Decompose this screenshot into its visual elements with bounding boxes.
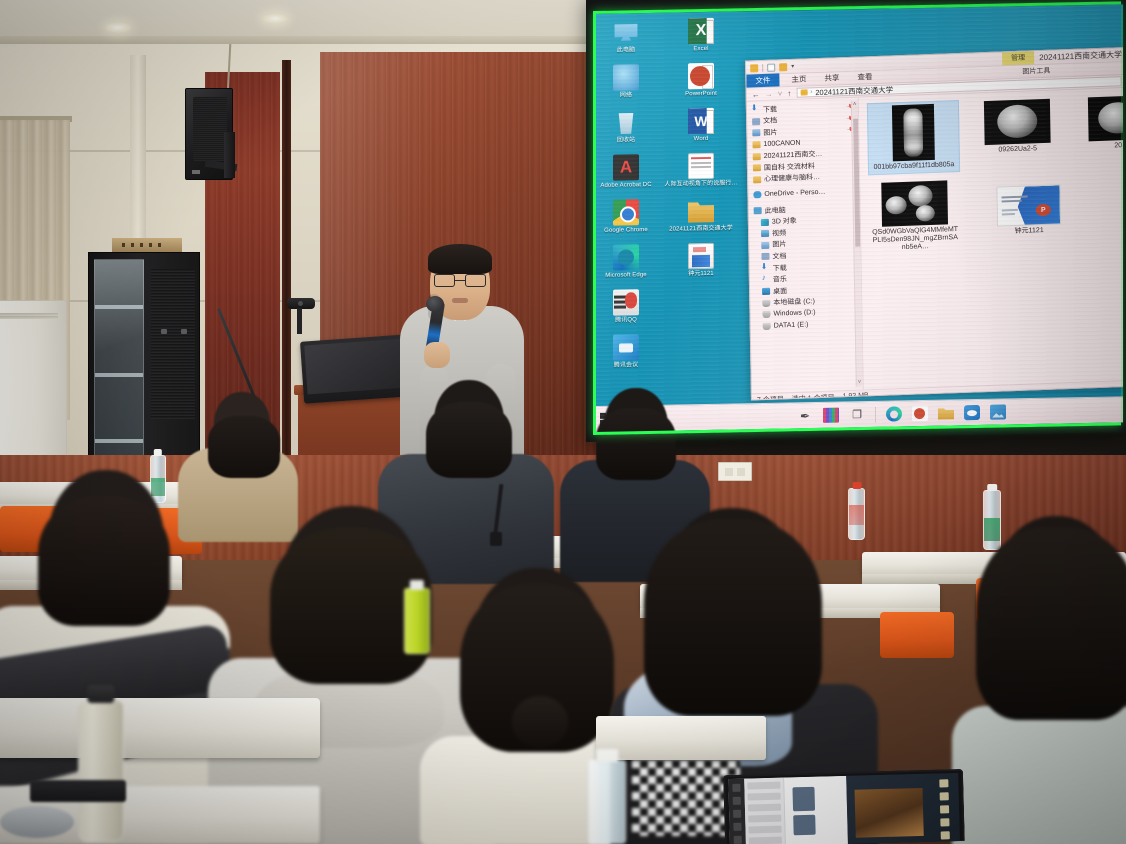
file-name-label: 001bb97cba9f11f1db805a [874, 161, 955, 172]
file-list-content-pane[interactable]: 001bb97cba9f11f1db805a 09262Ua2-5 20… [859, 88, 1123, 389]
scroll-down-icon[interactable]: ˅ [858, 380, 862, 386]
nav-item-label: 文档 [772, 251, 786, 261]
nav-item-label: 桌面 [773, 286, 787, 296]
ceiling [0, 0, 600, 40]
pen-icon[interactable] [797, 408, 813, 423]
file-thumbnail [1088, 95, 1123, 141]
file-name-label: QSd0WGbVaQlG4MMfeMTPLI5sDen98JN_mgZBrnSA… [871, 226, 959, 253]
desktop-icon-label: 腾讯会议 [600, 362, 652, 370]
desktop-icon-excel[interactable]: Excel [662, 17, 740, 53]
photos-icon[interactable] [990, 404, 1006, 419]
file-thumbnail-powerpoint [996, 184, 1061, 226]
forward-icon[interactable]: → [765, 89, 773, 98]
desktop-icon-tencent-meeting[interactable]: 腾讯会议 [600, 334, 652, 370]
desktop-icon-zhongyuan-ppt[interactable]: 钟元1121 [662, 242, 740, 278]
file-tile[interactable]: 09262Ua2-5 [971, 96, 1064, 157]
nav-item-label: 国自科 交流材料 [764, 161, 815, 173]
student-laptop[interactable] [723, 769, 965, 844]
manage-contextual-group: 管理 [1002, 50, 1034, 65]
nav-item-label: DATA1 (E:) [774, 321, 809, 329]
taskbar-icon-group[interactable] [797, 404, 1006, 424]
desktop-icon-label: Microsoft Edge [600, 272, 652, 280]
microphone-head [426, 296, 444, 312]
laptop-desktop-background [846, 773, 960, 844]
adobe-acrobat-icon [613, 154, 639, 180]
drive-icon [762, 311, 770, 318]
videos-icon [761, 230, 769, 237]
books-icon[interactable] [823, 408, 839, 423]
desktop-icon-recycle-bin[interactable]: 回收站 [600, 109, 652, 145]
wall-outlet [718, 462, 752, 481]
quick-access-folder-icon[interactable] [750, 64, 758, 72]
ceiling-downlight [105, 22, 131, 33]
wechat-sidebar[interactable] [728, 779, 746, 844]
folder-icon [800, 89, 807, 95]
desktop-icon-edge[interactable]: Microsoft Edge [600, 244, 652, 280]
status-selection-size: 1.93 MB [843, 392, 869, 400]
wechat-window[interactable] [728, 776, 848, 844]
desktop-icon-this-pc[interactable]: 此电脑 [600, 19, 652, 55]
desktop-icon-label: 网络 [600, 92, 652, 100]
3d-objects-icon [761, 218, 769, 225]
tab-picture-tools[interactable]: 图片工具 [1022, 66, 1050, 77]
tencent-meeting-icon [613, 334, 639, 360]
status-item-count: 7 个项目 [757, 394, 784, 401]
status-selection-count: 选中 1 个项目 [792, 392, 835, 400]
desktop-icon-document[interactable]: 人际互动视角下的说服行… [662, 152, 740, 188]
folder-icon [753, 176, 761, 183]
tab-share[interactable]: 共享 [815, 71, 848, 85]
excel-icon [688, 18, 714, 44]
folder-icon [753, 153, 761, 160]
navigation-pane[interactable]: 下载 📌 文档 📌 图片 📌 100CA [747, 98, 864, 394]
desktop-icon-label: Excel [662, 45, 740, 53]
equipment-rack-top-leds [122, 243, 164, 247]
hair-bun [512, 696, 568, 748]
lecture-hall-photo: 此电脑 Excel 网络 PowerPoint 回收站 Word [0, 0, 1126, 844]
nav-item-label: 20241121西南交… [764, 149, 823, 161]
phone-on-desk [30, 780, 126, 802]
file-tile-powerpoint[interactable]: 钟元1121 [980, 182, 1077, 239]
file-name-label: 钟元1121 [1015, 227, 1044, 236]
front-desk [0, 698, 320, 758]
nav-item-label: 文档 [763, 116, 777, 126]
desktop-icon-tencent-qq[interactable]: 腾讯QQ [600, 289, 652, 325]
tab-view[interactable]: 查看 [848, 70, 881, 84]
nav-item-label: 本地磁盘 (C:) [773, 296, 815, 307]
recycle-bin-icon [613, 109, 639, 135]
desktop-icon-label: 人际互动视角下的说服行… [662, 180, 740, 188]
desktop-icon-powerpoint[interactable]: PowerPoint [662, 62, 740, 98]
presenter-glasses [434, 274, 486, 287]
desktop-icon-label: 钟元1121 [662, 270, 740, 278]
eyeglasses-on-desk [0, 806, 74, 838]
download-icon [752, 106, 760, 113]
file-tile-partial[interactable]: 20… [1075, 93, 1123, 154]
powerpoint-icon[interactable] [912, 406, 928, 421]
folder-icon [752, 141, 760, 148]
file-name-label: 09262Ua2-5 [998, 145, 1037, 154]
audience-member-far-right [952, 516, 1126, 844]
water-bottle [588, 760, 626, 844]
nav-item-label: 音乐 [773, 274, 787, 284]
pictures-icon [752, 130, 760, 137]
explorer-body: 下载 📌 文档 📌 图片 📌 100CA [747, 88, 1123, 393]
desktop-icon-network[interactable]: 网络 [600, 64, 652, 100]
quick-access-properties-icon[interactable] [779, 63, 787, 71]
file-tile-selected[interactable]: 001bb97cba9f11f1db805a [867, 100, 960, 175]
file-thumbnail [881, 180, 948, 226]
documents-icon [761, 253, 769, 260]
nav-item-drive-e[interactable]: DATA1 (E:) [754, 317, 862, 332]
desktop-icon-grid: 此电脑 Excel 网络 PowerPoint 回收站 Word [600, 17, 750, 370]
nav-item-label: 下载 [763, 104, 777, 114]
file-thumbnail [892, 104, 935, 161]
documents-icon [752, 118, 760, 125]
word-icon [688, 108, 714, 134]
green-drink-bottle [404, 588, 430, 654]
desktop-icon-label: PowerPoint [662, 90, 740, 98]
download-icon [762, 265, 770, 272]
document-icon [688, 153, 714, 179]
webcam-stand [297, 308, 302, 334]
presenter-mouth [452, 298, 468, 303]
breadcrumb-current: 20241121西南交通大学 [815, 84, 893, 98]
tencent-qq-icon [613, 289, 639, 315]
presenter-hair [428, 244, 492, 274]
desktop-icon-label: 回收站 [600, 137, 652, 145]
ceiling-downlight [262, 13, 288, 24]
quick-access-check-icon[interactable] [767, 63, 775, 71]
onedrive-icon [753, 192, 761, 199]
chevron-down-icon[interactable]: ▾ [791, 63, 794, 70]
up-icon[interactable]: ↑ [787, 88, 791, 97]
scroll-up-icon[interactable]: ˄ [853, 102, 857, 108]
nav-item-label: Windows (D:) [773, 310, 815, 318]
this-pc-icon [754, 207, 762, 214]
projected-windows-desktop: 此电脑 Excel 网络 PowerPoint 回收站 Word [596, 4, 1123, 432]
powerpoint-icon [688, 63, 714, 89]
desktop-icon-adobe-acrobat[interactable]: Adobe Acrobat DC [600, 154, 652, 190]
desktop-icon-label: 腾讯QQ [600, 317, 652, 325]
edge-icon [613, 244, 639, 270]
nav-item-label: 图片 [763, 127, 777, 137]
desktop-icon-label: 20241121西南交通大学 [662, 225, 740, 233]
desktop-icon-folder-20241121[interactable]: 20241121西南交通大学 [662, 197, 740, 233]
folder-icon [688, 198, 714, 224]
network-icon [613, 64, 639, 90]
chevron-right-icon: › [810, 89, 812, 95]
powerpoint-file-icon [688, 243, 714, 269]
nav-item-label: 视频 [772, 228, 786, 238]
wechat-conversation[interactable] [784, 776, 848, 844]
file-thumbnail [984, 99, 1051, 145]
wechat-icon[interactable] [964, 405, 980, 420]
nav-item-label: 100CANON [763, 140, 800, 148]
presenter-hand [424, 342, 450, 368]
desktop-icon-label: Word [662, 135, 740, 143]
desktop-icon-label: Adobe Acrobat DC [600, 182, 652, 190]
file-tile[interactable]: QSd0WGbVaQlG4MMfeMTPLI5sDen98JN_mgZBrnSA… [868, 178, 961, 255]
file-explorer-icon[interactable] [938, 405, 954, 420]
back-icon[interactable]: ← [752, 90, 760, 99]
drive-icon [762, 300, 770, 307]
nav-item-label: OneDrive - Perso… [764, 189, 825, 198]
nav-item-label: 3D 对象 [772, 216, 797, 227]
edge-icon[interactable] [886, 406, 902, 421]
nav-item-label: 下载 [773, 263, 787, 273]
tab-home[interactable]: 主页 [782, 72, 815, 86]
wechat-chat-list[interactable] [744, 778, 786, 844]
file-explorer-window[interactable]: ▾ 管理 20241121西南交通大学 文件 主页 共享 查看 图片工具 ← →… [745, 47, 1123, 401]
desktop-icon-label: Google Chrome [600, 227, 652, 235]
recent-locations-icon[interactable]: ˅ [778, 89, 783, 98]
drive-icon [763, 323, 771, 330]
nav-item-label: 心理健康与脑科… [764, 172, 820, 184]
music-icon [762, 276, 770, 283]
nav-item-label: 此电脑 [765, 205, 786, 216]
task-view-icon[interactable] [849, 407, 865, 422]
front-desk [596, 716, 766, 760]
desktop-icon-label: 此电脑 [600, 47, 652, 55]
desktop-icon [762, 288, 770, 295]
folder-icon [753, 164, 761, 171]
thermos-bottle [78, 700, 124, 842]
classroom-chair [880, 612, 954, 658]
pictures-icon [761, 242, 769, 249]
desktop-icon-chrome[interactable]: Google Chrome [600, 199, 652, 235]
tab-file[interactable]: 文件 [746, 73, 779, 87]
desktop-icon-word[interactable]: Word [662, 107, 740, 143]
speaker-mount-bracket [224, 132, 235, 178]
file-name-label: 20… [1114, 142, 1123, 151]
laptop-screen [728, 773, 960, 844]
this-pc-icon [613, 19, 639, 45]
nav-item-label: 图片 [772, 240, 786, 250]
chrome-icon [613, 199, 639, 225]
